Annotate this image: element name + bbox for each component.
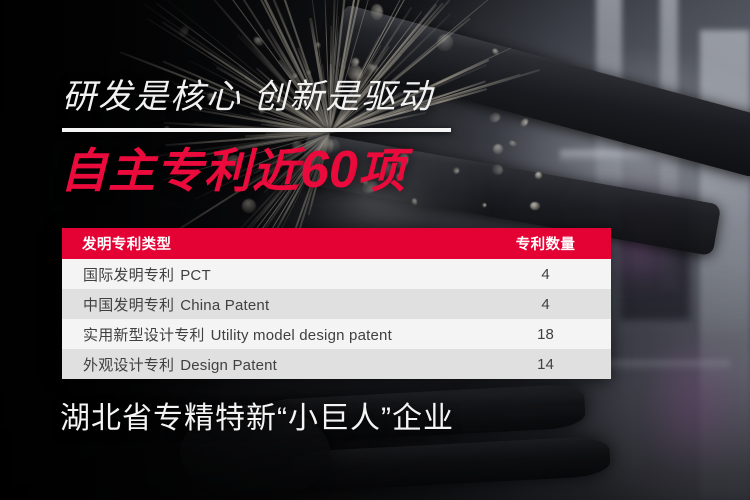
row-count: 4 xyxy=(487,289,611,319)
table-body: 国际发明专利PCT 4 中国发明专利China Patent 4 实用新型设计专… xyxy=(62,259,611,379)
row-label-en: Design Patent xyxy=(180,357,277,374)
row-label-en: Utility model design patent xyxy=(211,327,392,344)
title-prefix: 自主专利近 xyxy=(60,144,300,197)
table-row: 实用新型设计专利Utility model design patent 18 xyxy=(62,319,611,349)
column-header-type: 发明专利类型 xyxy=(62,228,487,259)
table-header-row: 发明专利类型 专利数量 xyxy=(62,228,611,259)
row-label: 外观设计专利Design Patent xyxy=(62,349,487,379)
row-label-en: China Patent xyxy=(180,297,269,314)
table-row: 中国发明专利China Patent 4 xyxy=(62,289,611,319)
title-suffix: 项 xyxy=(358,144,406,197)
row-label: 实用新型设计专利Utility model design patent xyxy=(62,319,487,349)
row-label: 中国发明专利China Patent xyxy=(62,289,487,319)
patent-table: 发明专利类型 专利数量 国际发明专利PCT 4 中国发明专利China Pate… xyxy=(62,228,611,379)
headline-divider xyxy=(62,128,451,132)
page-title: 自主专利近60项 xyxy=(60,144,406,196)
column-header-count: 专利数量 xyxy=(487,228,611,259)
patent-poster: 研发是核心 创新是驱动 自主专利近60项 发明专利类型 专利数量 国际发明专利P… xyxy=(0,0,750,500)
row-label-en: PCT xyxy=(180,267,211,284)
page-footer-text: 湖北省专精特新“小巨人”企业 xyxy=(60,404,454,434)
row-label-cn: 国际发明专利 xyxy=(83,267,174,284)
row-count: 14 xyxy=(487,349,611,379)
row-count: 4 xyxy=(487,259,611,289)
row-label: 国际发明专利PCT xyxy=(62,259,487,289)
row-label-cn: 外观设计专利 xyxy=(83,357,174,374)
table-row: 国际发明专利PCT 4 xyxy=(62,259,611,289)
row-label-cn: 中国发明专利 xyxy=(83,297,174,314)
title-number: 60 xyxy=(300,141,358,199)
table-row: 外观设计专利Design Patent 14 xyxy=(62,349,611,379)
page-headline: 研发是核心 创新是驱动 xyxy=(62,80,433,114)
row-label-cn: 实用新型设计专利 xyxy=(83,327,205,344)
row-count: 18 xyxy=(487,319,611,349)
